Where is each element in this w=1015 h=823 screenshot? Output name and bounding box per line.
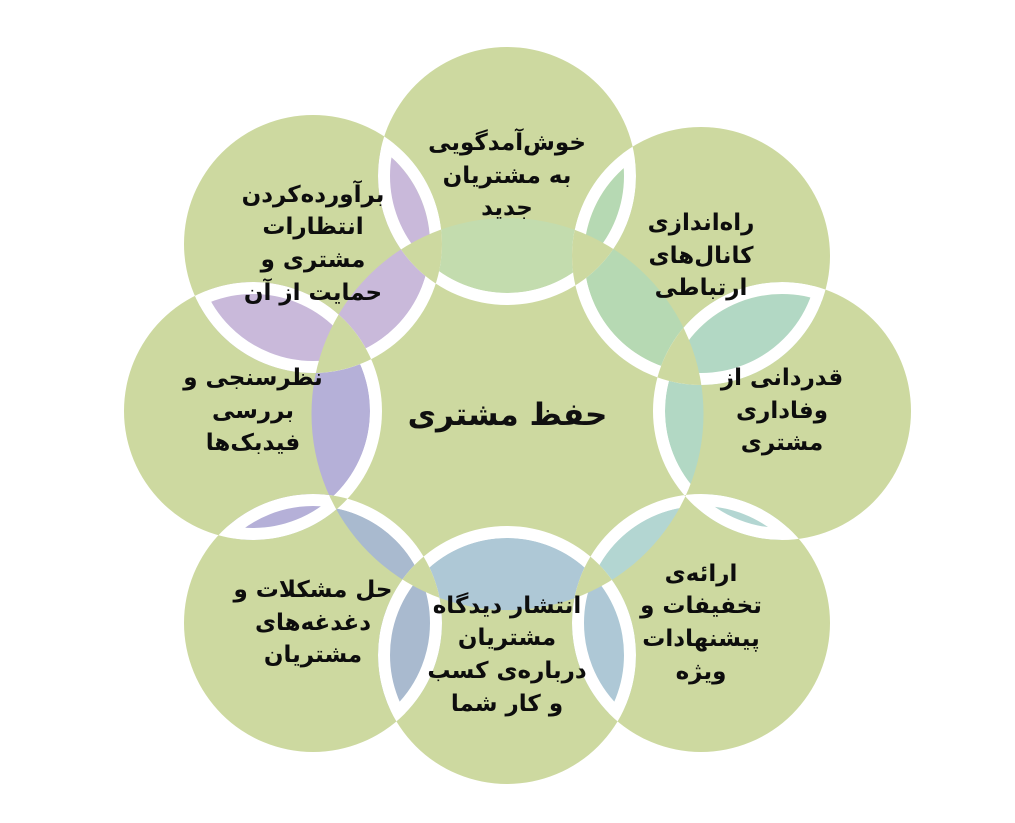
center-star: [124, 47, 911, 784]
center-star-shape[interactable]: [124, 47, 911, 784]
diagram-canvas: [0, 0, 1015, 823]
retention-diagram: خوش‌آمدگوییبه مشتریانجدیدراه‌اندازیکانال…: [0, 0, 1015, 823]
